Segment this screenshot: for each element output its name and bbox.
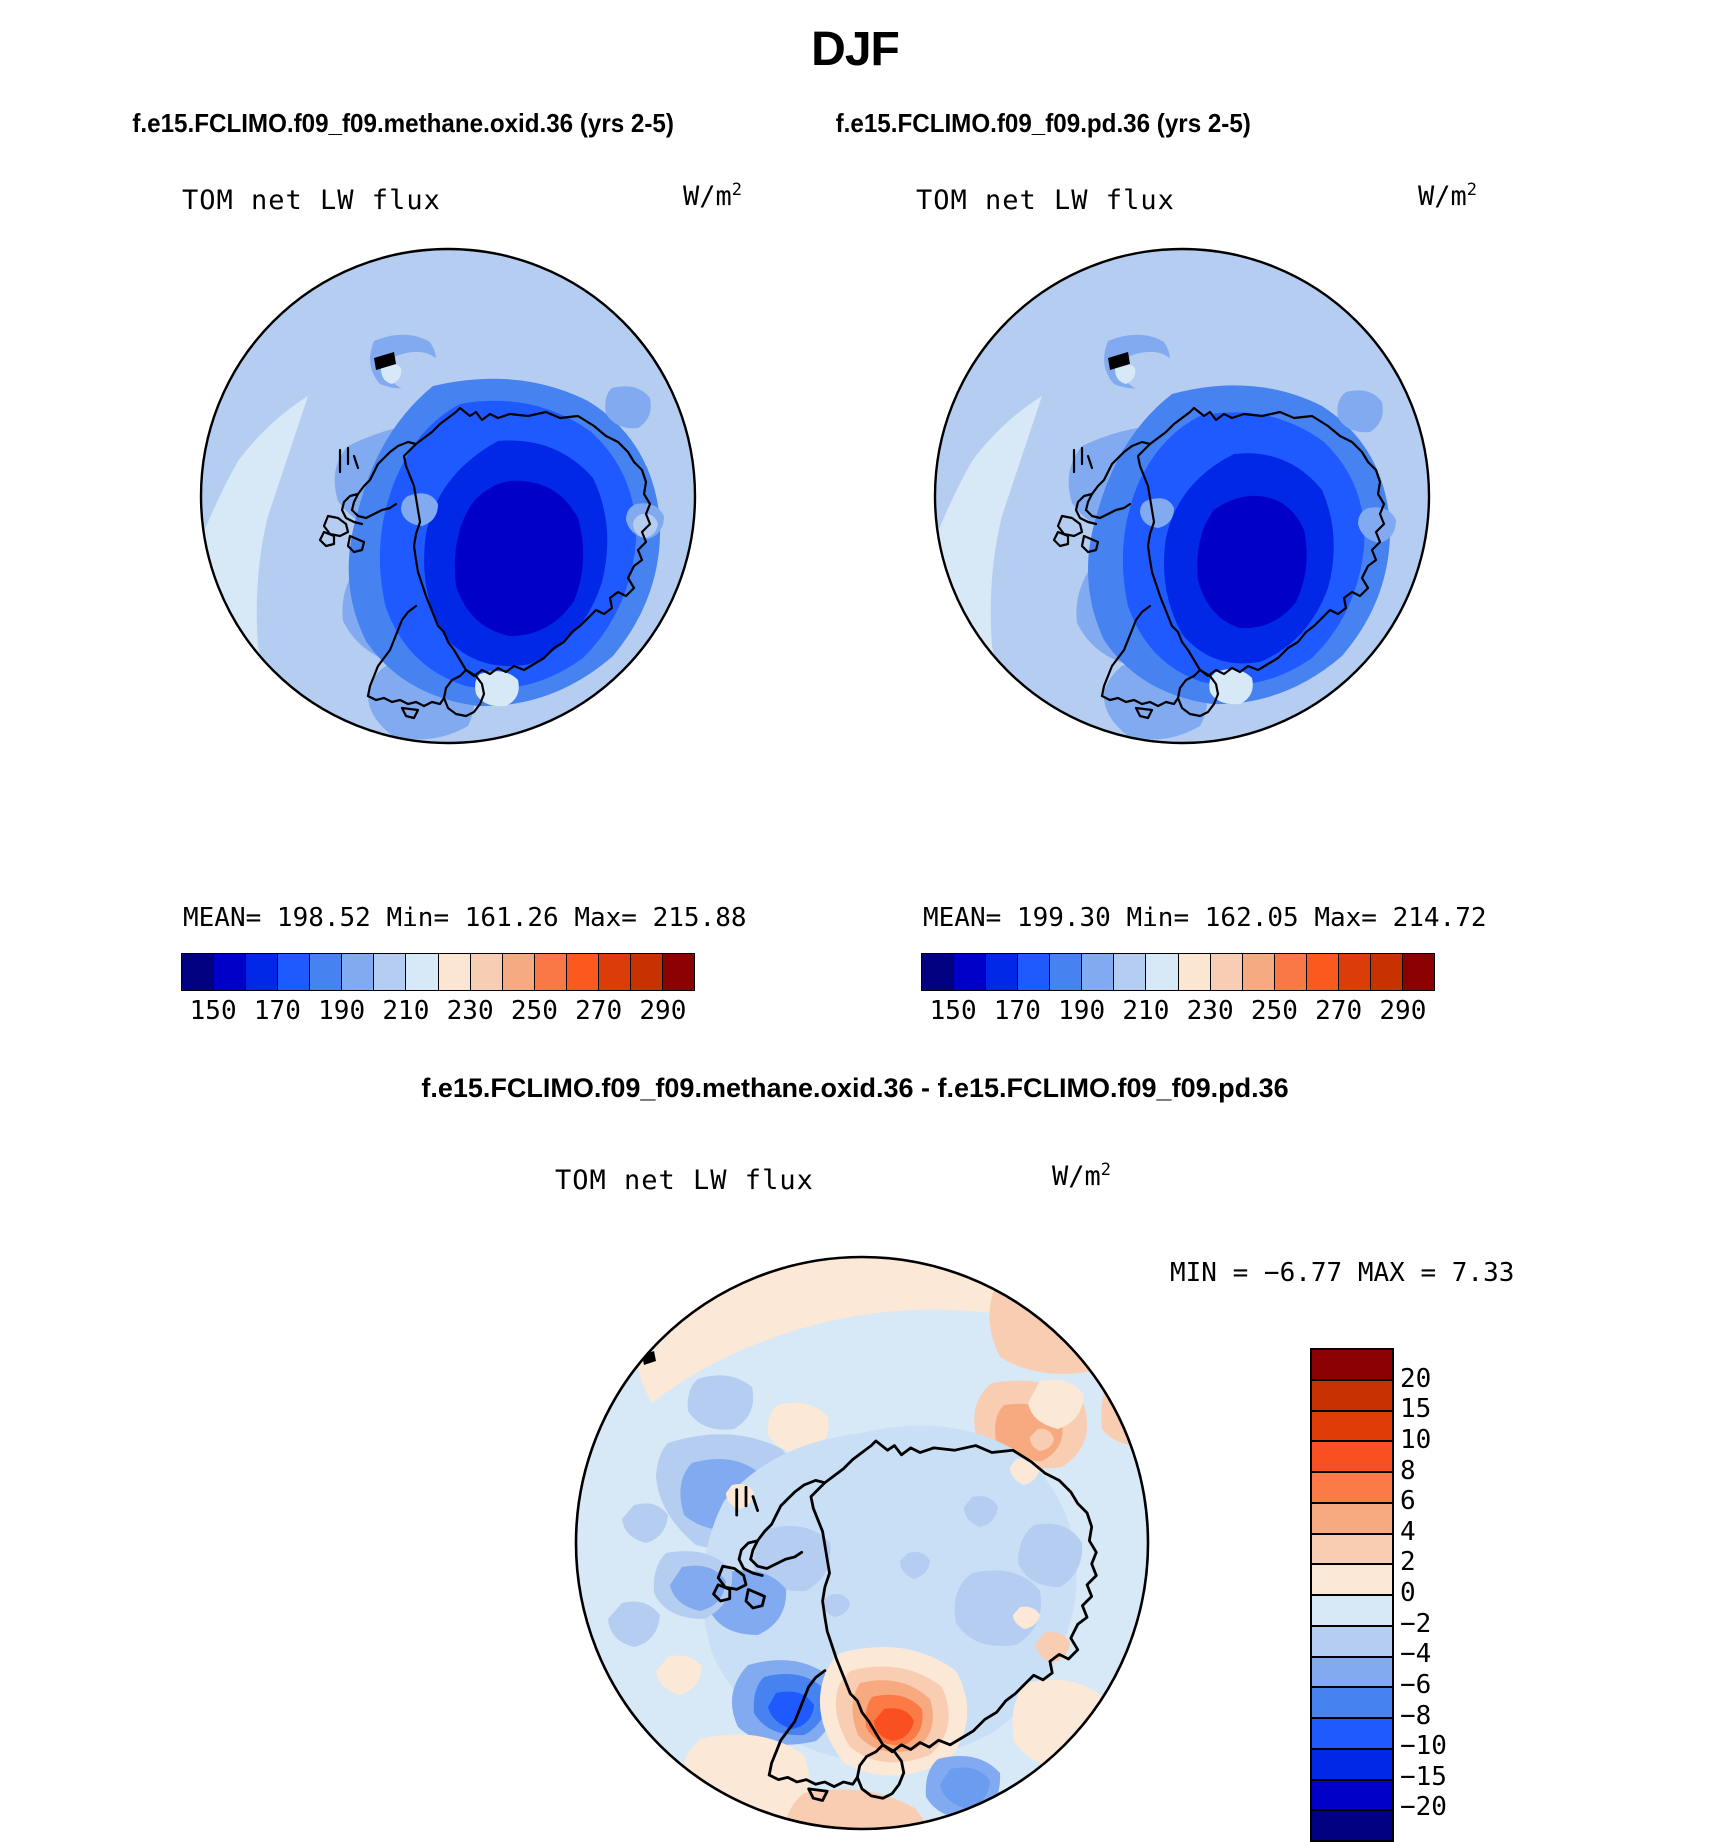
colorbar-tick-label: 230	[447, 996, 494, 1026]
figure-canvas: DJF f.e15.FCLIMO.f09_f09.methane.oxid.36…	[0, 0, 1710, 1840]
right-panel-title: f.e15.FCLIMO.f09_f09.pd.36 (yrs 2-5)	[836, 108, 1251, 139]
colorbar-cell	[1312, 1750, 1392, 1781]
colorbar-tick-label: 0	[1400, 1578, 1490, 1608]
colorbar-cell	[214, 954, 246, 990]
colorbar-tick-label: 4	[1400, 1517, 1490, 1547]
colorbar-tick-label: −2	[1400, 1609, 1490, 1639]
colorbar-cell	[310, 954, 342, 990]
colorbar-tick-label: 15	[1400, 1394, 1490, 1424]
colorbar-cell	[1082, 954, 1114, 990]
colorbar-tick-label: 8	[1400, 1456, 1490, 1486]
colorbar-tick-label: 150	[190, 996, 237, 1026]
colorbar-cell	[1307, 954, 1339, 990]
colorbar-cell	[471, 954, 503, 990]
colorbar-cell	[1179, 954, 1211, 990]
colorbar-cell	[663, 954, 694, 990]
colorbar-tick-label: 170	[994, 996, 1041, 1026]
colorbar-tick-label: 190	[318, 996, 365, 1026]
colorbar-cell	[1146, 954, 1178, 990]
colorbar-tick-label: 190	[1058, 996, 1105, 1026]
right-variable-label: TOM net LW flux	[916, 185, 1175, 216]
colorbar-cell	[503, 954, 535, 990]
colorbar-cell	[1312, 1596, 1392, 1627]
colorbar-cell	[599, 954, 631, 990]
diff-variable-label: TOM net LW flux	[555, 1165, 814, 1196]
right-unit-label: W/m2	[1418, 180, 1477, 212]
colorbar-cell	[954, 954, 986, 990]
colorbar-tick-label: −4	[1400, 1639, 1490, 1669]
colorbar-cell	[631, 954, 663, 990]
colorbar-cell	[1312, 1473, 1392, 1504]
colorbar-cell	[1243, 954, 1275, 990]
right-map-svg	[932, 246, 1432, 746]
colorbar-cell	[986, 954, 1018, 990]
colorbar-tick-label: 230	[1187, 996, 1234, 1026]
colorbar-cell	[1275, 954, 1307, 990]
left-unit-exponent: 2	[732, 180, 742, 200]
colorbar-cell	[1312, 1688, 1392, 1719]
left-unit-label: W/m2	[683, 180, 742, 212]
colorbar-cell	[1312, 1504, 1392, 1535]
left-colorbar-ticks: 150170190210230250270290	[181, 996, 693, 1032]
colorbar-tick-label: −10	[1400, 1731, 1490, 1761]
right-unit-text: W/m	[1418, 181, 1467, 212]
colorbar-tick-label: −20	[1400, 1792, 1490, 1822]
colorbar-cell	[1312, 1442, 1392, 1473]
colorbar-cell	[1312, 1627, 1392, 1658]
colorbar-tick-label: −8	[1400, 1701, 1490, 1731]
colorbar-cell	[1312, 1658, 1392, 1689]
colorbar-cell	[922, 954, 954, 990]
colorbar-tick-label: 210	[1122, 996, 1169, 1026]
diff-colorbar	[1310, 1348, 1394, 1842]
colorbar-tick-label: 270	[1315, 996, 1362, 1026]
left-colorbar	[181, 953, 695, 991]
colorbar-tick-label: 270	[575, 996, 622, 1026]
colorbar-cell	[1312, 1719, 1392, 1750]
colorbar-cell	[1312, 1811, 1392, 1840]
colorbar-cell	[1312, 1412, 1392, 1443]
colorbar-cell	[1211, 954, 1243, 990]
right-unit-exponent: 2	[1467, 180, 1477, 200]
colorbar-tick-label: −15	[1400, 1762, 1490, 1792]
colorbar-tick-label: 150	[930, 996, 977, 1026]
left-stats: MEAN= 198.52 Min= 161.26 Max= 215.88	[183, 903, 747, 933]
colorbar-tick-label: 2	[1400, 1547, 1490, 1577]
left-map-svg	[198, 246, 698, 746]
colorbar-cell	[1114, 954, 1146, 990]
colorbar-cell	[342, 954, 374, 990]
colorbar-cell	[1312, 1565, 1392, 1596]
colorbar-tick-label: 250	[511, 996, 558, 1026]
colorbar-cell	[535, 954, 567, 990]
diff-unit-label: W/m2	[1052, 1160, 1111, 1192]
right-colorbar-ticks: 150170190210230250270290	[921, 996, 1433, 1032]
left-panel-title: f.e15.FCLIMO.f09_f09.methane.oxid.36 (yr…	[132, 108, 674, 139]
diff-map	[572, 1253, 1152, 1833]
colorbar-cell	[1312, 1350, 1392, 1381]
colorbar-tick-label: 290	[639, 996, 686, 1026]
right-colorbar	[921, 953, 1435, 991]
colorbar-cell	[1371, 954, 1403, 990]
colorbar-tick-label: 210	[382, 996, 429, 1026]
diff-map-svg	[572, 1253, 1152, 1833]
colorbar-cell	[1312, 1381, 1392, 1412]
diff-unit-exponent: 2	[1101, 1160, 1111, 1180]
colorbar-cell	[1312, 1535, 1392, 1566]
colorbar-cell	[182, 954, 214, 990]
diff-unit-text: W/m	[1052, 1161, 1101, 1192]
colorbar-tick-label: 250	[1251, 996, 1298, 1026]
left-variable-label: TOM net LW flux	[182, 185, 441, 216]
colorbar-cell	[374, 954, 406, 990]
colorbar-tick-label: 10	[1400, 1425, 1490, 1455]
colorbar-tick-label: 170	[254, 996, 301, 1026]
colorbar-cell	[439, 954, 471, 990]
right-map	[932, 246, 1432, 746]
diff-panel-title: f.e15.FCLIMO.f09_f09.methane.oxid.36 - f…	[0, 1073, 1710, 1104]
colorbar-cell	[278, 954, 310, 990]
left-unit-text: W/m	[683, 181, 732, 212]
colorbar-cell	[246, 954, 278, 990]
left-map	[198, 246, 698, 746]
colorbar-cell	[1339, 954, 1371, 990]
colorbar-tick-label: 6	[1400, 1486, 1490, 1516]
colorbar-cell	[567, 954, 599, 990]
colorbar-cell	[1050, 954, 1082, 990]
page-title: DJF	[0, 22, 1710, 77]
colorbar-cell	[1018, 954, 1050, 990]
colorbar-tick-label: 290	[1379, 996, 1426, 1026]
right-stats: MEAN= 199.30 Min= 162.05 Max= 214.72	[923, 903, 1487, 933]
colorbar-cell	[1403, 954, 1434, 990]
colorbar-cell	[406, 954, 438, 990]
colorbar-tick-label: −6	[1400, 1670, 1490, 1700]
colorbar-cell	[1312, 1781, 1392, 1812]
colorbar-tick-label: 20	[1400, 1364, 1490, 1394]
diff-minmax: MIN = −6.77 MAX = 7.33	[1170, 1258, 1514, 1288]
